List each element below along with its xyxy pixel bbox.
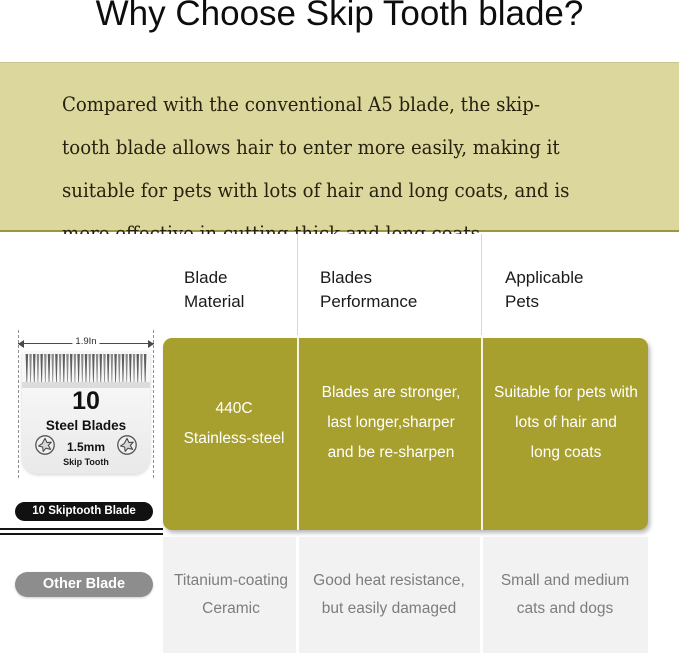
row-separator-top xyxy=(0,528,163,530)
screw-star-icon-right xyxy=(116,434,138,456)
cell-other-performance: Good heat resistance,but easily damaged xyxy=(301,567,477,623)
cell-other-material: Titanium-coatingCeramic xyxy=(167,567,295,623)
page-title: Why Choose Skip Tooth blade? xyxy=(0,0,679,34)
dimension-tick-right xyxy=(153,330,154,478)
column-header-blade-material: BladeMaterial xyxy=(184,266,294,314)
blade-teeth-icon xyxy=(22,352,150,388)
column-header-blades-performance: BladesPerformance xyxy=(320,266,475,314)
description-text: Compared with the conventional A5 blade,… xyxy=(62,83,583,255)
blade-body: 10 Steel Blades 1.5mm Skip Tooth xyxy=(22,352,150,474)
label-pill-other-blade: Other Blade xyxy=(15,572,153,597)
olive-cell-divider-1 xyxy=(297,338,299,530)
dimension-tick-left xyxy=(18,330,19,478)
cell-other-pets: Small and mediumcats and dogs xyxy=(485,567,645,623)
blade-material-text: Steel Blades xyxy=(22,418,150,433)
blade-type-text: Skip Tooth xyxy=(22,457,150,467)
cell-skiptooth-pets: Suitable for pets withlots of hair andlo… xyxy=(487,378,645,468)
dimension-arrow-right-icon xyxy=(148,340,154,348)
table-row-skiptooth: 440CStainless-steel Blades are stronger,… xyxy=(163,338,648,530)
table-row-other-blade: Titanium-coatingCeramic Good heat resist… xyxy=(163,537,648,653)
column-divider-1 xyxy=(297,234,298,335)
cell-skiptooth-performance: Blades are stronger,last longer,sharpera… xyxy=(303,378,479,468)
screw-star-icon-left xyxy=(34,434,56,456)
olive-cell-divider-2 xyxy=(481,338,483,530)
gray-cell-divider-2 xyxy=(480,537,483,653)
cell-skiptooth-material: 440CStainless-steel xyxy=(171,394,297,454)
column-header-applicable-pets: ApplicablePets xyxy=(505,266,655,314)
infographic-page: Why Choose Skip Tooth blade? Compared wi… xyxy=(0,0,679,653)
blade-number: 10 xyxy=(22,388,150,415)
dimension-line: 1.9In xyxy=(18,338,154,350)
gray-cell-divider-1 xyxy=(296,537,299,653)
blade-product-image: 1.9In 10 Steel Blades 1.5mm Skip Tooth xyxy=(8,330,160,498)
label-pill-skiptooth: 10 Skiptooth Blade xyxy=(15,502,153,521)
row-separator-bottom xyxy=(0,533,163,535)
column-divider-2 xyxy=(481,234,482,335)
dimension-arrow-left-icon xyxy=(18,340,24,348)
description-banner: Compared with the conventional A5 blade,… xyxy=(0,62,679,232)
dimension-label: 1.9In xyxy=(72,336,99,347)
